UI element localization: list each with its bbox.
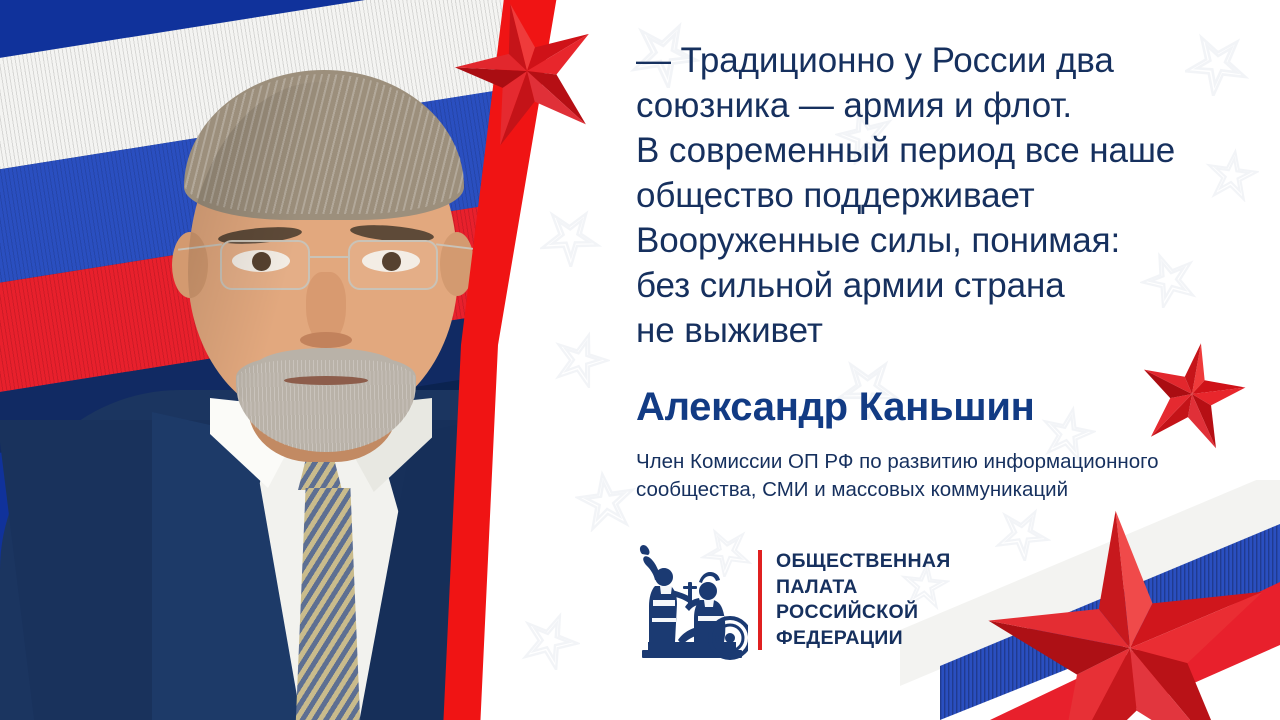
speaker-role: Член Комиссии ОП РФ по развитию информац… — [636, 448, 1246, 504]
logo-divider-bar — [758, 550, 762, 650]
logo-text-line: РОССИЙСКОЙ — [776, 600, 951, 626]
logo-text-line: ОБЩЕСТВЕННАЯ — [776, 549, 951, 575]
logo-text-line: ФЕДЕРАЦИИ — [776, 626, 951, 652]
quote-line: В современный период все наше — [636, 128, 1236, 173]
red-star-bottom-right — [980, 498, 1280, 720]
organization-logo: ОБЩЕСТВЕННАЯ ПАЛАТА РОССИЙСКОЙ ФЕДЕРАЦИИ — [636, 538, 951, 662]
logo-text: ОБЩЕСТВЕННАЯ ПАЛАТА РОССИЙСКОЙ ФЕДЕРАЦИИ — [776, 549, 951, 651]
outlined-star-watermark — [552, 330, 610, 388]
quote-line: союзника — армия и флот. — [636, 83, 1236, 128]
quote-line: общество поддерживает — [636, 173, 1236, 218]
logo-text-line: ПАЛАТА — [776, 575, 951, 601]
quote-text: — Традиционно у России два союзника — ар… — [636, 38, 1236, 353]
outlined-star-watermark — [575, 470, 637, 532]
speaker-name: Александр Каньшин — [636, 385, 1034, 430]
speaker-role-line: Член Комиссии ОП РФ по развитию информац… — [636, 448, 1246, 476]
quote-line: не выживет — [636, 308, 1236, 353]
quote-line: без сильной армии страна — [636, 263, 1236, 308]
outlined-star-watermark — [540, 205, 602, 267]
speaker-role-line: сообщества, СМИ и массовых коммуникаций — [636, 476, 1246, 504]
red-star-middle-right — [1136, 338, 1248, 450]
red-star-top — [452, 0, 602, 146]
quote-line: Вооруженные силы, понимая: — [636, 218, 1236, 263]
outlined-star-watermark — [520, 610, 580, 670]
quote-line: — Традиционно у России два — [636, 38, 1236, 83]
quote-card: — Традиционно у России два союзника — ар… — [0, 0, 1280, 720]
minin-pozharsky-monument-emblem — [636, 538, 748, 662]
speaker-portrait-photo — [60, 60, 580, 720]
